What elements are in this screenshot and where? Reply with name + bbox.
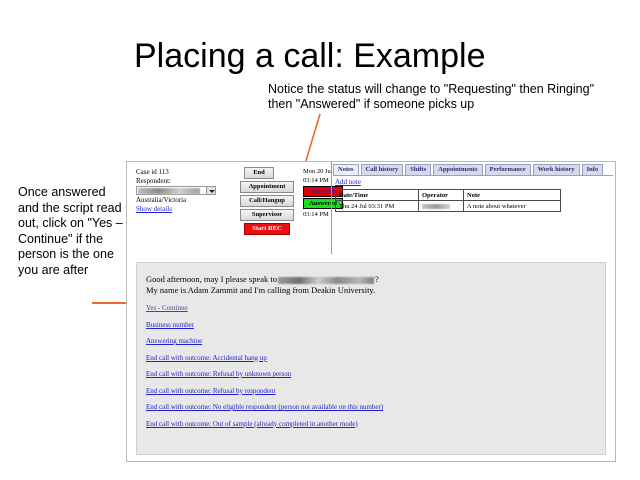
supervisor-button[interactable]: Supervisor xyxy=(240,209,294,221)
case-id-label: Case id 113 xyxy=(136,168,221,177)
tab-strip: Notes Call history Shifts Appointments P… xyxy=(333,164,613,176)
tab-call-history[interactable]: Call history xyxy=(361,164,404,175)
chevron-down-icon[interactable] xyxy=(206,187,215,194)
option-answering-machine[interactable]: Answering machine xyxy=(146,337,202,345)
locale-label: Australia/Victoria xyxy=(136,196,221,205)
option-out-of-sample[interactable]: End call with outcome: Out of sample (al… xyxy=(146,420,358,428)
tab-shifts[interactable]: Shifts xyxy=(405,164,431,175)
end-button[interactable]: End xyxy=(244,167,274,179)
cell-operator xyxy=(419,201,464,212)
script-line-1-before: Good afternoon, may I please speak to xyxy=(146,274,277,284)
tab-notes[interactable]: Notes xyxy=(333,164,359,175)
option-yes-continue[interactable]: Yes - Continue xyxy=(146,304,188,312)
tab-work-history[interactable]: Work history xyxy=(533,164,580,175)
appointment-button[interactable]: Appointment xyxy=(240,181,294,193)
call-buttons-group: End Appointment Call/Hangup Supervisor S… xyxy=(240,167,300,237)
redacted-person-name xyxy=(278,277,374,284)
cell-note: A note about whatever xyxy=(464,201,561,212)
redacted-respondent-name xyxy=(138,188,200,194)
column-header-datetime: Date/Time xyxy=(336,190,419,201)
tab-performance[interactable]: Performance xyxy=(485,164,531,175)
annotation-status-note: Notice the status will change to "Reques… xyxy=(268,82,598,112)
show-details-link[interactable]: Show details xyxy=(136,205,172,214)
script-options-list: Yes - Continue Business number Answering… xyxy=(146,304,605,428)
page-title: Placing a call: Example xyxy=(134,36,486,76)
option-business-number[interactable]: Business number xyxy=(146,321,194,329)
script-line-2: My name is Adam Zammit and I'm calling f… xyxy=(146,285,605,296)
column-header-note: Note xyxy=(464,190,561,201)
tab-appointments[interactable]: Appointments xyxy=(433,164,482,175)
script-panel: Good afternoon, may I please speak to? M… xyxy=(136,262,606,455)
option-accidental-hang-up[interactable]: End call with outcome: Accidental hang u… xyxy=(146,354,267,362)
option-refusal-unknown-person[interactable]: End call with outcome: Refusal by unknow… xyxy=(146,370,291,378)
panel-divider xyxy=(331,162,332,254)
redacted-operator-name xyxy=(422,204,450,209)
case-panel: Case id 113 Respondent: Australia/Victor… xyxy=(136,168,221,214)
annotation-continue-note: Once answered and the script read out, c… xyxy=(18,185,126,278)
cell-datetime: Thu 24 Jul 03:31 PM xyxy=(336,201,419,212)
respondent-label: Respondent: xyxy=(136,177,221,186)
app-top-region: Case id 113 Respondent: Australia/Victor… xyxy=(127,162,615,254)
respondent-select[interactable] xyxy=(136,186,216,195)
add-note-link[interactable]: Add note xyxy=(335,178,361,187)
option-refusal-respondent[interactable]: End call with outcome: Refusal by respon… xyxy=(146,387,275,395)
script-text: Good afternoon, may I please speak to? M… xyxy=(146,274,605,296)
column-header-operator: Operator xyxy=(419,190,464,201)
script-line-1: Good afternoon, may I please speak to? xyxy=(146,274,605,285)
table-row[interactable]: Thu 24 Jul 03:31 PM A note about whateve… xyxy=(336,201,561,212)
notes-table: Date/Time Operator Note Thu 24 Jul 03:31… xyxy=(335,189,561,212)
start-rec-button[interactable]: Start REC xyxy=(244,223,290,235)
tabs-panel: Notes Call history Shifts Appointments P… xyxy=(333,164,613,212)
script-line-1-after: ? xyxy=(375,274,379,284)
tab-info[interactable]: Info xyxy=(582,164,604,175)
table-header-row: Date/Time Operator Note xyxy=(336,190,561,201)
app-screenshot: Case id 113 Respondent: Australia/Victor… xyxy=(126,161,616,462)
call-hangup-button[interactable]: Call/Hangup xyxy=(240,195,294,207)
option-no-eligible-respondent[interactable]: End call with outcome: No eligible respo… xyxy=(146,403,383,411)
